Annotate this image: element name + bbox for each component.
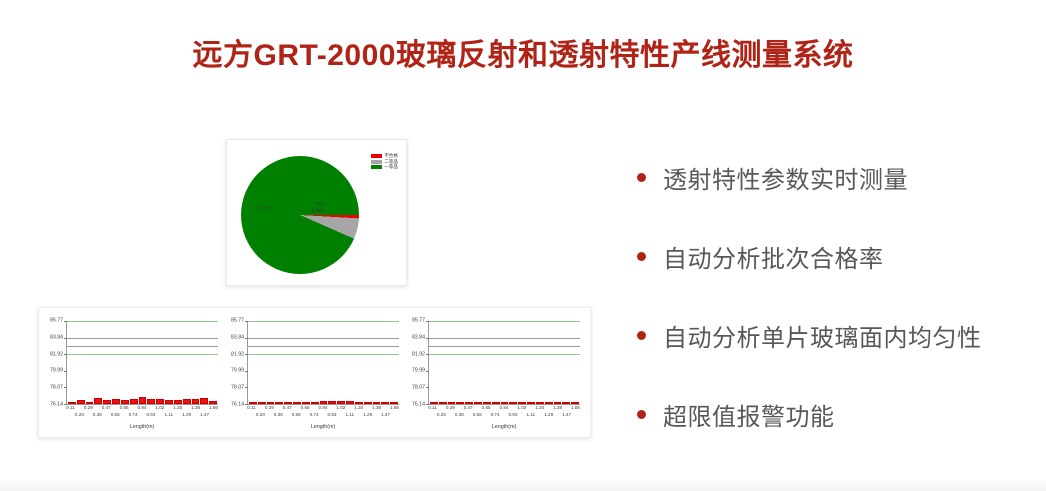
bar [456, 402, 464, 404]
y-axis-tick-mark [245, 371, 248, 372]
bar-chart-panel-3: 76.1478.0779.9981.9283.8485.770.110.200.… [405, 315, 586, 433]
x-axis-tick-label: 1.02 [336, 406, 345, 411]
bar-chart-panel-2: 76.1478.0779.9981.9283.8485.770.110.200.… [224, 315, 405, 433]
bar [320, 401, 328, 404]
x-axis-tick-labels: 0.110.200.290.380.470.560.650.740.840.93… [428, 406, 580, 422]
x-axis-tick-label: 0.47 [464, 406, 473, 411]
bar [364, 402, 372, 404]
y-axis-tick-label: 76.14 [412, 402, 425, 407]
y-axis-tick-mark [426, 321, 429, 322]
pie-slice-label-unqualified: 0.91% [314, 202, 326, 206]
y-axis-tick-labels: 76.1478.0779.9981.9283.8485.77 [43, 321, 65, 405]
bullet-dot-icon [637, 331, 646, 340]
y-axis-tick-label: 81.92 [231, 352, 244, 357]
bottom-decoration-band [0, 479, 1046, 491]
y-axis-tick-label: 85.77 [50, 318, 63, 323]
bar [183, 399, 191, 404]
bar [527, 402, 535, 404]
x-axis-tick-label: 1.47 [381, 413, 390, 418]
y-axis-tick-mark [426, 387, 429, 388]
x-axis-tick-label: 0.11 [66, 406, 75, 411]
bar [192, 399, 200, 404]
y-axis-tick-mark [245, 321, 248, 322]
bar [562, 402, 570, 404]
bullet-label: 超限值报警功能 [663, 397, 835, 432]
x-axis-tick-label: 0.84 [500, 406, 509, 411]
y-axis-tick-label: 85.77 [231, 318, 244, 323]
x-axis-tick-label: 0.29 [265, 406, 274, 411]
bar [200, 398, 208, 404]
bar [68, 402, 76, 404]
y-axis-tick-label: 83.84 [50, 335, 63, 340]
x-axis-tick-label: 1.11 [165, 413, 174, 418]
plot-area [428, 321, 580, 405]
y-axis-tick-labels: 76.1478.0779.9981.9283.8485.77 [405, 321, 427, 405]
y-axis-tick-label: 79.99 [50, 369, 63, 374]
x-axis-tick-label: 0.65 [301, 406, 310, 411]
bullet-label: 透射特性参数实时测量 [663, 160, 908, 195]
bar [474, 402, 482, 404]
bar-series [430, 321, 579, 404]
list-item: 超限值报警功能 [637, 375, 1037, 454]
bar [430, 402, 438, 404]
bar [492, 402, 500, 404]
x-axis-tick-label: 0.38 [274, 413, 283, 418]
pie-chart-legend: 不合格 二等品 一等品 [371, 154, 398, 170]
y-axis-tick-mark [64, 371, 67, 372]
x-axis-tick-label: 1.20 [173, 406, 182, 411]
y-axis-tick-label: 85.77 [412, 318, 425, 323]
bar [86, 402, 94, 404]
x-axis-tick-label: 0.74 [129, 413, 138, 418]
x-axis-tick-labels: 0.110.200.290.380.470.560.650.740.840.93… [247, 406, 399, 422]
x-axis-tick-label: 1.20 [535, 406, 544, 411]
bullet-dot-icon [637, 252, 646, 261]
bullet-dot-icon [637, 410, 646, 419]
bar [501, 402, 509, 404]
bar [311, 402, 319, 404]
bar [112, 399, 120, 404]
y-axis-tick-label: 78.07 [231, 386, 244, 391]
y-axis-tick-mark [245, 387, 248, 388]
y-axis-tick-label: 78.07 [50, 386, 63, 391]
bar [275, 402, 283, 404]
bullet-label: 自动分析单片玻璃面内均匀性 [663, 318, 982, 353]
bar [147, 399, 155, 404]
bar [103, 400, 111, 404]
x-axis-tick-label: 0.84 [319, 406, 328, 411]
bar [258, 402, 266, 404]
x-axis-tick-label: 1.56 [390, 406, 399, 411]
x-axis-tick-label: 1.47 [562, 413, 571, 418]
x-axis-tick-label: 0.29 [446, 406, 455, 411]
y-axis-tick-label: 81.92 [412, 352, 425, 357]
x-axis-tick-label: 1.20 [354, 406, 363, 411]
x-axis-tick-label: 0.38 [93, 413, 102, 418]
x-axis-tick-label: 1.11 [346, 413, 355, 418]
x-axis-tick-label: 0.93 [327, 413, 336, 418]
x-axis-tick-label: 1.38 [191, 406, 200, 411]
bullet-dot-icon [637, 173, 646, 182]
x-axis-tick-labels: 0.110.200.290.380.470.560.650.740.840.93… [66, 406, 218, 422]
bar [165, 400, 173, 404]
y-axis-tick-label: 79.99 [412, 369, 425, 374]
bar [571, 402, 579, 404]
x-axis-tick-label: 1.02 [155, 406, 164, 411]
bar [130, 399, 138, 404]
bar [381, 402, 389, 404]
bar [284, 402, 292, 404]
x-axis-tick-label: 0.56 [473, 413, 482, 418]
x-axis-tick-label: 0.29 [84, 406, 93, 411]
bar [249, 402, 257, 404]
x-axis-tick-label: 0.56 [292, 413, 301, 418]
bar [355, 402, 363, 404]
bar [121, 400, 129, 404]
y-axis-tick-mark [64, 354, 67, 355]
legend-swatch-icon [371, 160, 382, 164]
bar [518, 402, 526, 404]
x-axis-tick-label: 0.93 [508, 413, 517, 418]
y-axis-tick-label: 79.99 [231, 369, 244, 374]
x-axis-tick-label: 0.11 [247, 406, 256, 411]
x-axis-tick-label: 0.84 [138, 406, 147, 411]
y-axis-tick-label: 78.07 [412, 386, 425, 391]
x-axis-tick-label: 0.74 [491, 413, 500, 418]
bar [390, 402, 398, 404]
bar [156, 399, 164, 404]
x-axis-tick-label: 0.65 [482, 406, 491, 411]
bar [337, 401, 345, 404]
uniformity-trend-card: 76.1478.0779.9981.9283.8485.770.110.200.… [38, 307, 591, 438]
x-axis-title: Length(m) [428, 425, 580, 430]
y-axis-tick-mark [426, 371, 429, 372]
plot-area [66, 321, 218, 405]
bar [174, 400, 182, 404]
y-axis-tick-label: 76.14 [231, 402, 244, 407]
legend-item-unqualified: 不合格 [371, 154, 398, 159]
x-axis-tick-label: 0.20 [437, 413, 446, 418]
bar [302, 402, 310, 404]
bar [554, 402, 562, 404]
y-axis-tick-labels: 76.1478.0779.9981.9283.8485.77 [224, 321, 246, 405]
x-axis-tick-label: 1.29 [363, 413, 372, 418]
y-axis-tick-mark [64, 387, 67, 388]
x-axis-tick-label: 0.47 [283, 406, 292, 411]
bar-series [249, 321, 398, 404]
bar-chart-panel-1: 76.1478.0779.9981.9283.8485.770.110.200.… [43, 315, 224, 433]
pie-chart-circle [241, 156, 359, 274]
bar [209, 401, 217, 404]
pie-slice-label-second-grade: 5.68% [312, 209, 324, 213]
pie-slice-label-first-grade: 93.41% [258, 206, 273, 210]
bar [509, 402, 517, 404]
y-axis-tick-mark [426, 338, 429, 339]
bar [465, 402, 473, 404]
bar [293, 402, 301, 404]
bar-series [68, 321, 217, 404]
pie-chart-card: 93.41% 0.91% 5.68% 不合格 二等品 一等品 [226, 139, 407, 286]
bar [77, 400, 85, 404]
x-axis-tick-label: 1.56 [571, 406, 580, 411]
x-axis-tick-label: 1.29 [182, 413, 191, 418]
bar [448, 402, 456, 404]
x-axis-tick-label: 1.29 [544, 413, 553, 418]
bar [94, 398, 102, 404]
x-axis-tick-label: 0.38 [455, 413, 464, 418]
bar [536, 402, 544, 404]
x-axis-tick-label: 1.11 [527, 413, 536, 418]
y-axis-tick-mark [245, 338, 248, 339]
list-item: 自动分析批次合格率 [637, 217, 1037, 296]
legend-label: 不合格 [384, 154, 398, 159]
y-axis-tick-label: 81.92 [50, 352, 63, 357]
y-axis-tick-mark [426, 354, 429, 355]
bar [439, 402, 447, 404]
bar [328, 401, 336, 404]
x-axis-tick-label: 1.02 [517, 406, 526, 411]
y-axis-tick-mark [245, 354, 248, 355]
bar [545, 402, 553, 404]
bar [373, 402, 381, 404]
y-axis-tick-label: 83.84 [412, 335, 425, 340]
x-axis-title: Length(m) [66, 425, 218, 430]
y-axis-tick-mark [64, 338, 67, 339]
feature-bullet-list: 透射特性参数实时测量 自动分析批次合格率 自动分析单片玻璃面内均匀性 超限值报警… [637, 138, 1037, 454]
x-axis-tick-label: 1.56 [209, 406, 218, 411]
page-title: 远方GRT-2000玻璃反射和透射特性产线测量系统 [0, 30, 1046, 74]
bar [267, 402, 275, 404]
list-item: 自动分析单片玻璃面内均匀性 [637, 296, 1037, 375]
x-axis-tick-label: 0.93 [146, 413, 155, 418]
y-axis-tick-label: 83.84 [231, 335, 244, 340]
list-item: 透射特性参数实时测量 [637, 138, 1037, 217]
x-axis-tick-label: 1.38 [553, 406, 562, 411]
y-axis-tick-mark [64, 321, 67, 322]
x-axis-tick-label: 0.65 [120, 406, 129, 411]
bullet-label: 自动分析批次合格率 [663, 239, 884, 274]
bar [346, 401, 354, 404]
x-axis-tick-label: 1.38 [372, 406, 381, 411]
plot-area [247, 321, 399, 405]
x-axis-tick-label: 0.11 [428, 406, 437, 411]
x-axis-tick-label: 0.74 [310, 413, 319, 418]
x-axis-tick-label: 0.47 [102, 406, 111, 411]
pie-chart-plot: 93.41% 0.91% 5.68% 不合格 二等品 一等品 [235, 148, 400, 279]
legend-item-first-grade: 一等品 [371, 165, 398, 170]
x-axis-title: Length(m) [247, 425, 399, 430]
x-axis-tick-label: 0.56 [111, 413, 120, 418]
legend-swatch-icon [371, 165, 382, 169]
legend-swatch-icon [371, 154, 382, 158]
x-axis-tick-label: 0.20 [75, 413, 84, 418]
x-axis-tick-label: 1.47 [200, 413, 209, 418]
bar [139, 397, 147, 404]
legend-label: 一等品 [384, 165, 398, 170]
y-axis-tick-label: 76.14 [50, 402, 63, 407]
bar [483, 402, 491, 404]
x-axis-tick-label: 0.20 [256, 413, 265, 418]
